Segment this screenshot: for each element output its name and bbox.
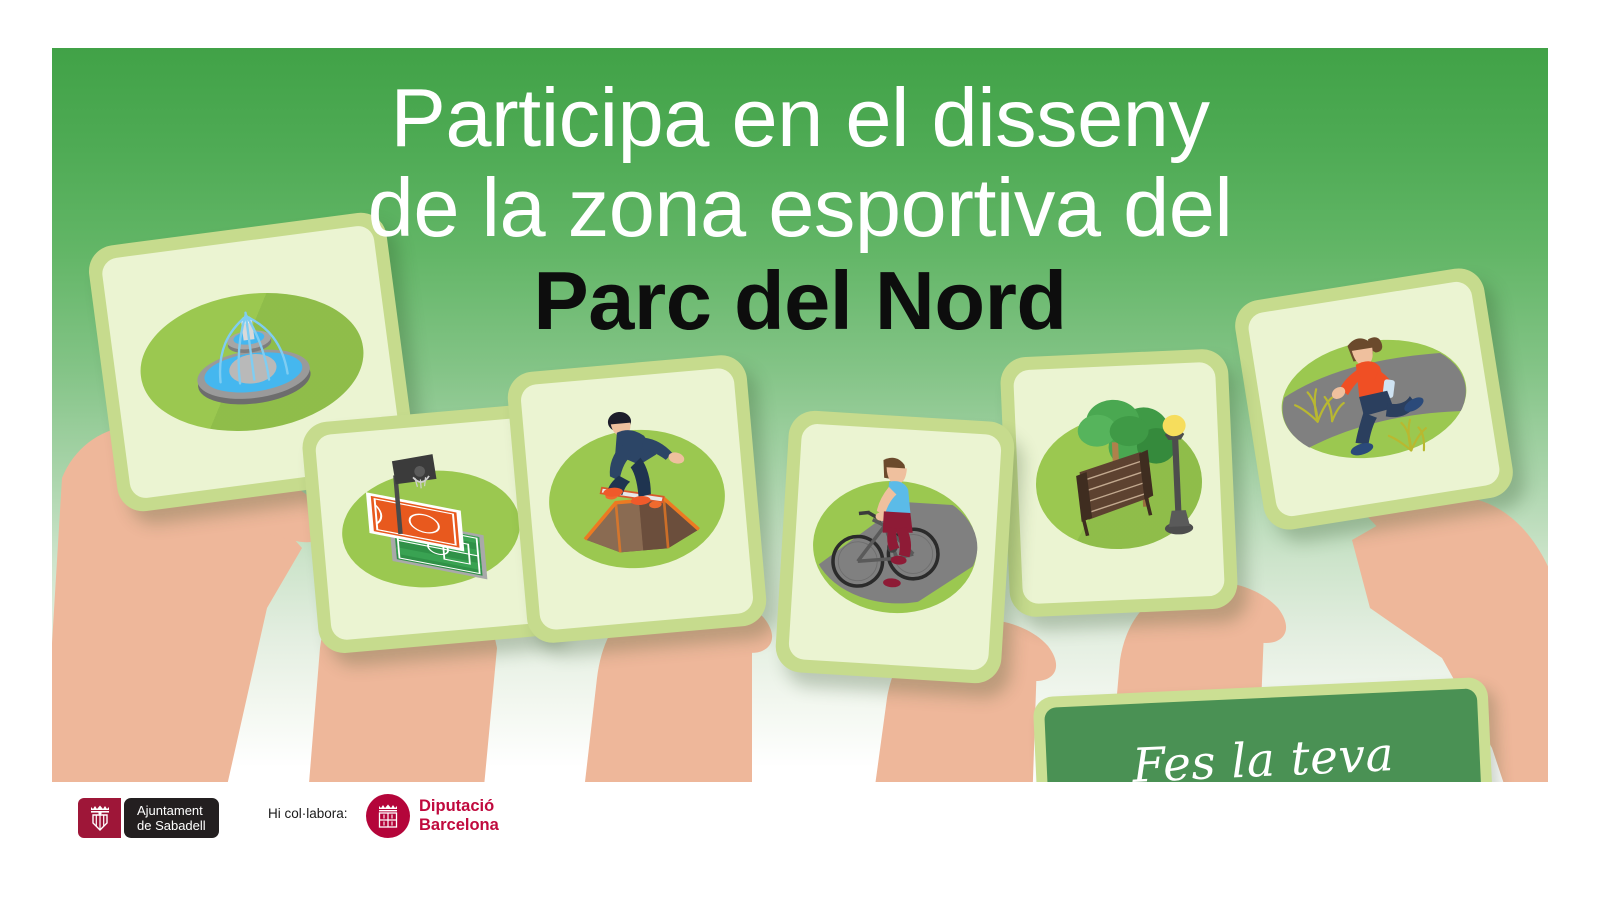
card-face [520, 367, 755, 631]
skater-illustration [520, 367, 754, 627]
sabadell-crest-icon [86, 803, 114, 833]
poster-canvas: Participa en el disseny de la zona espor… [0, 0, 1600, 900]
diputacio-emblem-icon [373, 801, 403, 831]
diputacio-wordmark: Diputació Barcelona [419, 797, 499, 835]
ajuntament-line-1: Ajuntament [137, 803, 206, 818]
card-running-path[interactable] [1231, 265, 1516, 534]
diputacio-crest-icon [366, 794, 410, 838]
skater-figure [596, 407, 689, 509]
cyclist-illustration [788, 423, 1002, 667]
card-park-bench[interactable] [999, 348, 1238, 618]
ajuntament-sabadell-logo[interactable]: Ajuntament de Sabadell [78, 798, 219, 838]
ajuntament-name-plate: Ajuntament de Sabadell [124, 798, 219, 838]
card-face [788, 423, 1002, 671]
bench-tree-lamp-illustration [1013, 362, 1225, 601]
card-face [1246, 280, 1501, 519]
footer-logos: Ajuntament de Sabadell Hi col·labora: Di… [0, 782, 1600, 900]
park-bench [1075, 450, 1155, 537]
diputacio-line-2: Barcelona [419, 816, 499, 835]
sabadell-shield-icon [78, 798, 121, 838]
card-face [1013, 362, 1225, 605]
diputacio-barcelona-logo[interactable]: Diputació Barcelona [366, 794, 499, 838]
diputacio-line-1: Diputació [419, 797, 499, 816]
grass-tuft-right [1387, 418, 1429, 456]
ajuntament-line-2: de Sabadell [137, 818, 206, 833]
green-banner: Participa en el disseny de la zona espor… [52, 48, 1548, 782]
runner-illustration [1246, 280, 1501, 519]
collaborator-label: Hi col·labora: [268, 806, 348, 821]
card-skate-ramp[interactable] [506, 353, 769, 645]
card-bike-path[interactable] [774, 409, 1016, 684]
